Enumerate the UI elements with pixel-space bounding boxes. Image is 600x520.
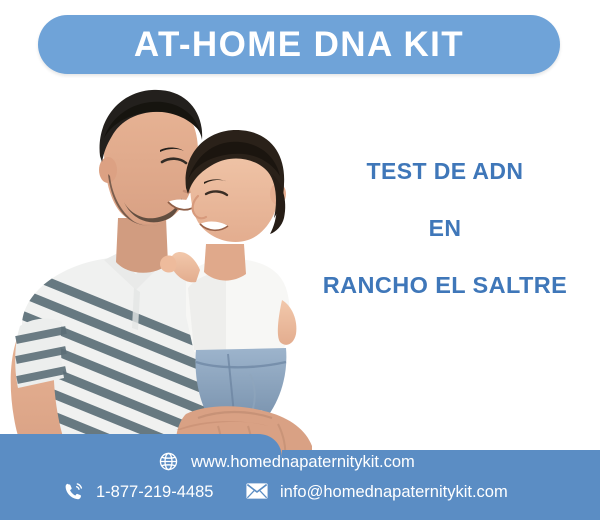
footer-contacts: www.homednapaternitykit.com 1-877-219-44… — [0, 434, 600, 520]
family-photo — [0, 78, 340, 456]
footer-phone-text: 1-877-219-4485 — [96, 484, 213, 501]
headline-line-location: RANCHO EL SALTRE — [300, 274, 590, 298]
footer-phone[interactable]: 1-877-219-4485 — [62, 480, 213, 502]
poster-root: AT-HOME DNA KIT — [0, 0, 600, 520]
footer-bar: www.homednapaternitykit.com 1-877-219-44… — [0, 434, 600, 520]
footer-website[interactable]: www.homednapaternitykit.com — [157, 450, 415, 472]
headline-line-2: EN — [300, 217, 590, 240]
phone-icon — [62, 480, 84, 502]
footer-website-text: www.homednapaternitykit.com — [191, 454, 415, 471]
globe-icon — [157, 450, 179, 472]
footer-email-text: info@homednapaternitykit.com — [280, 484, 508, 501]
headline-block: TEST DE ADN EN RANCHO EL SALTRE — [300, 160, 590, 298]
footer-email[interactable]: info@homednapaternitykit.com — [246, 480, 508, 502]
banner-title: AT-HOME DNA KIT — [134, 27, 464, 62]
header-banner: AT-HOME DNA KIT — [38, 15, 560, 74]
envelope-icon — [246, 480, 268, 502]
headline-line-1: TEST DE ADN — [300, 160, 590, 183]
